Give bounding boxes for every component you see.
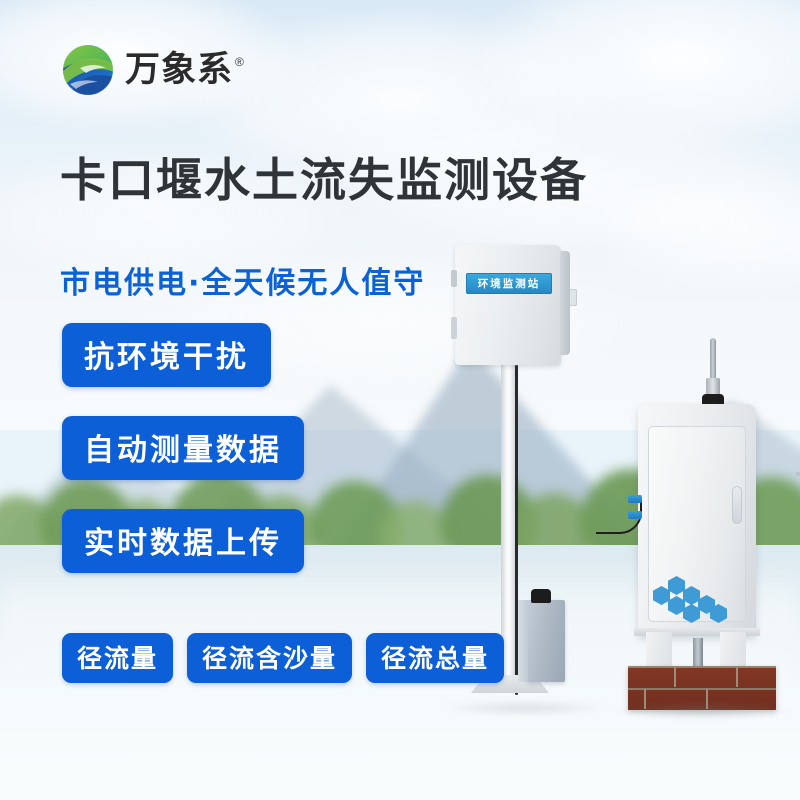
station-clip <box>451 317 457 339</box>
feature-badge[interactable]: 抗环境干扰 <box>62 323 271 387</box>
hexagon <box>683 586 700 605</box>
measurement-tag[interactable]: 径流量 <box>62 633 173 683</box>
brick-seam <box>674 667 676 687</box>
measurement-tag[interactable]: 径流含沙量 <box>187 633 352 683</box>
hexagon <box>668 576 685 595</box>
measurement-tag[interactable]: 径流总量 <box>366 633 504 683</box>
feature-badge[interactable]: 自动测量数据 <box>62 416 304 480</box>
page-title: 卡口堰水土流失监测设备 <box>60 155 680 206</box>
cabinet-leg <box>720 632 746 668</box>
brand-name: 万象系 <box>125 53 233 88</box>
registered-trademark-icon: ® <box>235 55 244 69</box>
cabinet-leg <box>646 632 672 668</box>
hexagon <box>653 586 670 605</box>
page-subtitle: 市电供电·全天候无人值守 <box>60 258 425 302</box>
globe-swirl-logo-icon <box>60 42 116 98</box>
measurement-tag-list: 径流量 径流含沙量 径流总量 <box>62 633 504 683</box>
station-label: 环境监测站 <box>466 273 552 294</box>
cable-connector <box>628 495 642 503</box>
sensor-box-cap <box>531 589 551 603</box>
station-clip <box>565 289 577 306</box>
brick-seam <box>736 667 738 687</box>
station-enclosure: 环境监测站 <box>455 245 561 365</box>
feature-badge[interactable]: 实时数据上传 <box>62 509 304 573</box>
brand-logo[interactable]: 万象系 ® <box>60 42 244 98</box>
cable-connector <box>628 511 642 519</box>
hexagon-cluster-logo-icon <box>652 576 718 616</box>
cabinet-side-arm <box>796 472 800 476</box>
sensor-box <box>527 600 565 682</box>
brand-name-wrap: 万象系 ® <box>125 53 244 88</box>
cabinet-body <box>638 404 756 636</box>
brick-ground-shadow <box>612 703 792 719</box>
station-clip <box>451 270 457 287</box>
feature-badge-list: 抗环境干扰 自动测量数据 实时数据上传 <box>62 323 304 573</box>
cable-connectors <box>628 495 642 531</box>
control-cabinet-assembly <box>638 400 798 710</box>
cabinet-door-handle <box>732 486 742 524</box>
hexagon <box>668 596 685 615</box>
